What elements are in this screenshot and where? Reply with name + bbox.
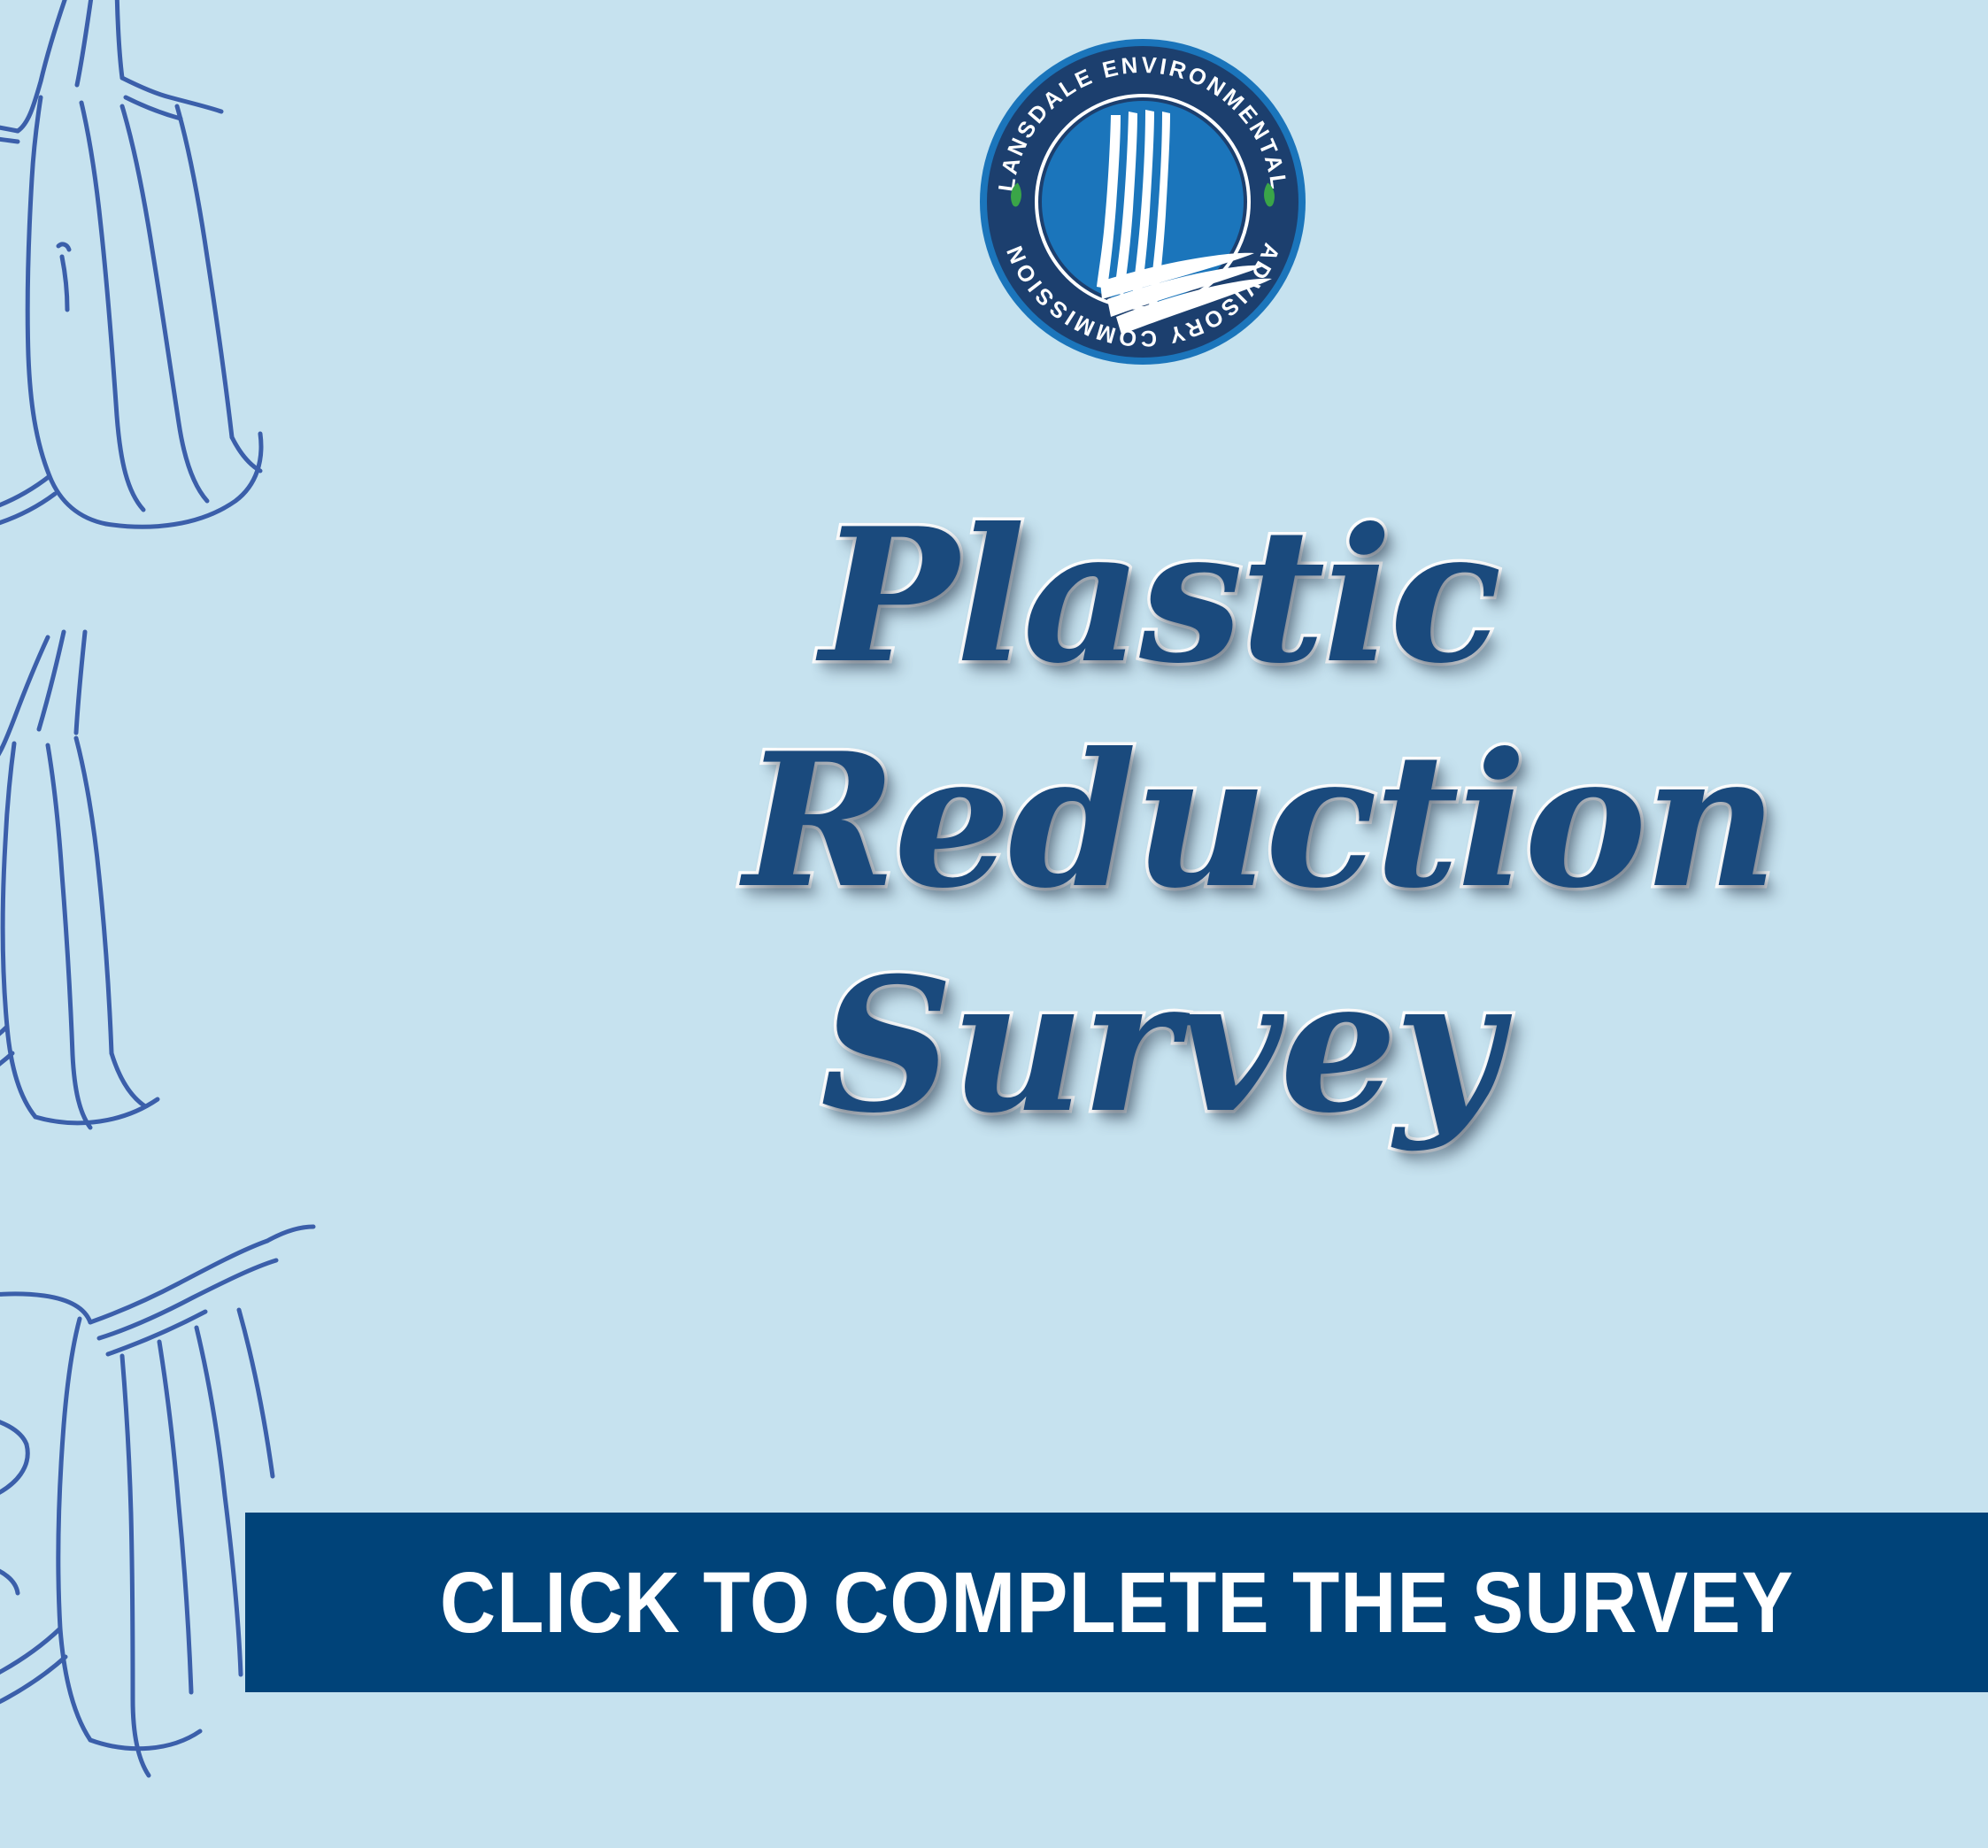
page-title: Plastic Reduction Survey xyxy=(744,496,1576,1416)
complete-survey-button[interactable]: CLICK TO COMPLETE THE SURVEY xyxy=(245,1513,1988,1692)
plastic-reduction-survey-poster: nk You nk You nk You nk You xyxy=(0,0,1988,1848)
complete-survey-button-label: CLICK TO COMPLETE THE SURVEY xyxy=(440,1559,1794,1645)
plastic-bag-illustration-folded xyxy=(0,1151,327,1788)
title-line-reduction: Reduction xyxy=(744,729,1576,913)
title-line-plastic: Plastic xyxy=(744,504,1576,689)
title-line-survey: Survey xyxy=(744,954,1576,1138)
plastic-bag-illustration-logo xyxy=(0,584,274,1151)
lansdale-environmental-advisory-commission-logo: LANSDALE ENVIRONMENTAL ADVISORY COMMISSI… xyxy=(978,37,1307,366)
plastic-bag-illustration-thank-you: nk You nk You nk You nk You xyxy=(0,0,345,540)
